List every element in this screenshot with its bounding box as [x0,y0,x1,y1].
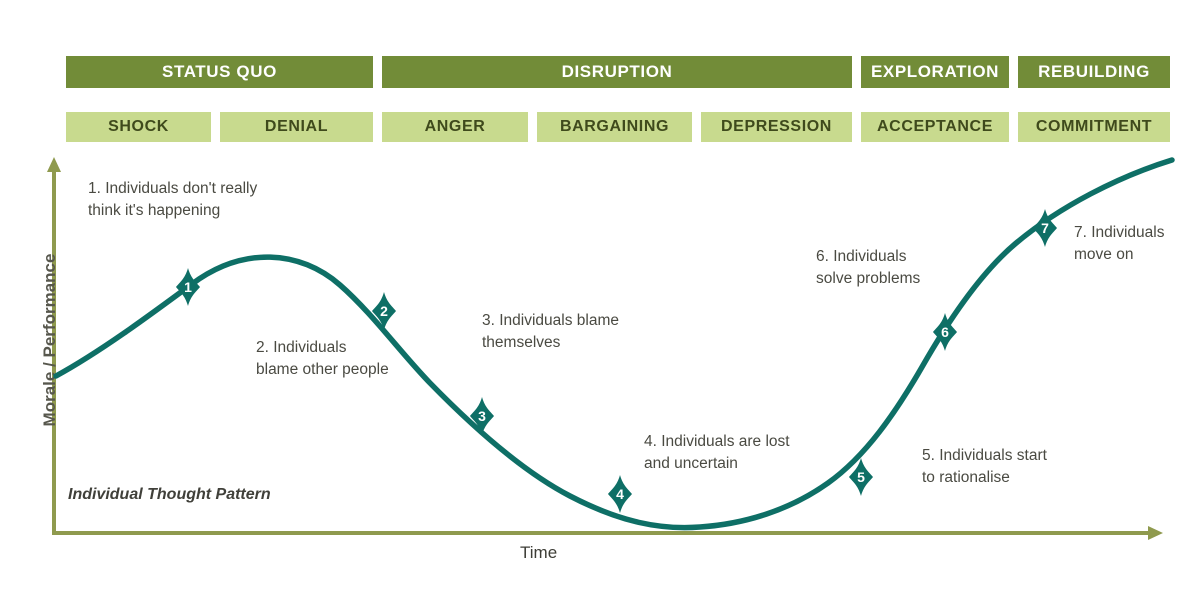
curve-marker-number: 4 [607,475,633,513]
curve-marker-6[interactable]: 6 [932,313,958,351]
curve-marker-number: 1 [175,268,201,306]
annotation-3: 3. Individuals blame themselves [482,310,619,355]
curve-marker-number: 2 [371,292,397,330]
curve-marker-4[interactable]: 4 [607,475,633,513]
annotation-1: 1. Individuals don't really think it's h… [88,178,257,223]
curve-marker-3[interactable]: 3 [469,397,495,435]
change-curve-diagram: STATUS QUODISRUPTIONEXPLORATIONREBUILDIN… [0,0,1200,600]
curve-marker-number: 5 [848,458,874,496]
curve-marker-number: 6 [932,313,958,351]
curve-marker-2[interactable]: 2 [371,292,397,330]
annotation-7: 7. Individuals move on [1074,222,1164,267]
curve-marker-number: 3 [469,397,495,435]
annotation-6: 6. Individuals solve problems [816,246,920,291]
curve-marker-7[interactable]: 7 [1032,209,1058,247]
annotation-2: 2. Individuals blame other people [256,337,389,382]
annotation-5: 5. Individuals start to rationalise [922,445,1047,490]
annotation-4: 4. Individuals are lost and uncertain [644,431,790,476]
curve-marker-5[interactable]: 5 [848,458,874,496]
curve-marker-1[interactable]: 1 [175,268,201,306]
curve-marker-number: 7 [1032,209,1058,247]
